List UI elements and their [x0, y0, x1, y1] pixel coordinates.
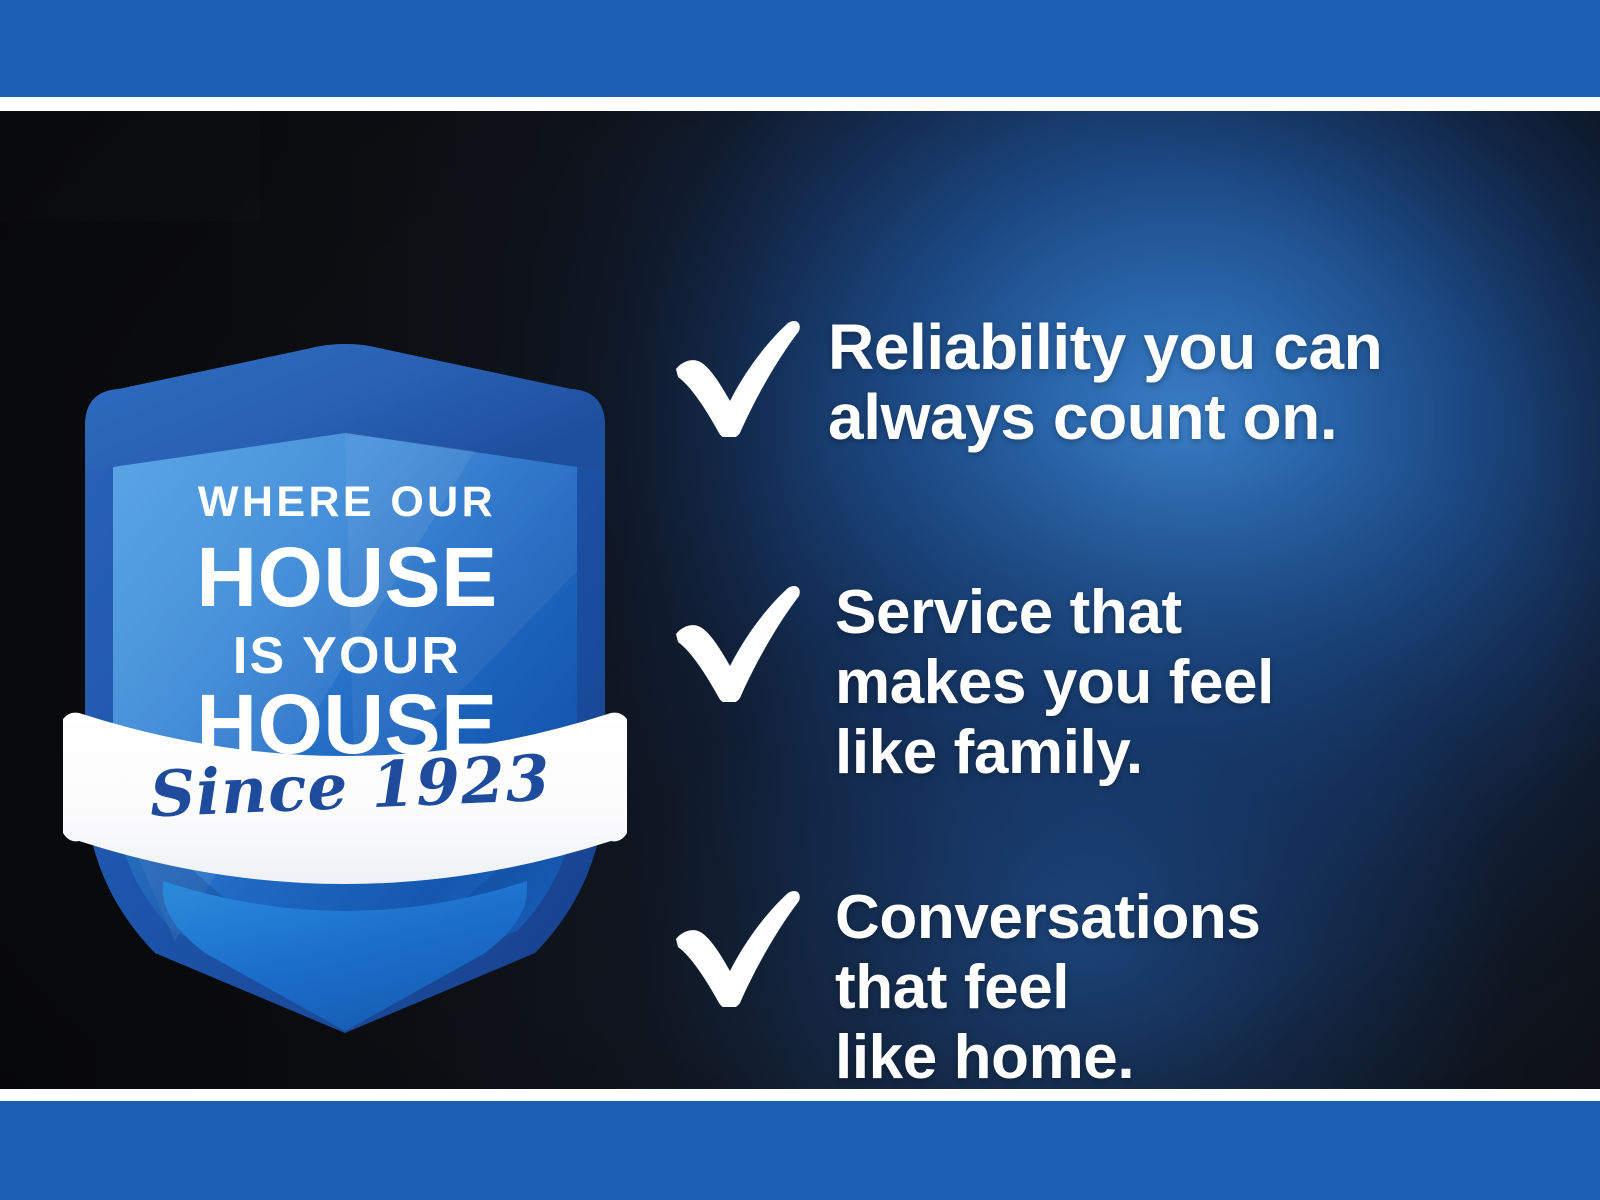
promo-poster: WHERE OUR HOUSE IS YOUR HOUSE Since 1923: [0, 0, 1600, 1200]
checkmark-icon: [668, 582, 808, 702]
benefit-text: Conversations that feel like home.: [835, 883, 1525, 1089]
main-panel: WHERE OUR HOUSE IS YOUR HOUSE Since 1923: [0, 111, 1600, 1089]
top-accent-bar: [0, 0, 1600, 97]
checkmark-icon: [668, 887, 808, 1007]
logo-line-1: WHERE OUR: [198, 478, 496, 526]
benefit-text: Service that makes you feel like family.: [835, 578, 1525, 788]
benefit-text: Reliability you can always count on.: [828, 313, 1518, 453]
shield-badge: WHERE OUR HOUSE IS YOUR HOUSE Since 1923: [55, 241, 635, 1061]
grain-texture-fine: [0, 111, 260, 221]
bottom-accent-bar: [0, 1101, 1600, 1200]
logo-line-2: HOUSE: [196, 530, 497, 624]
checkmark-icon: [668, 317, 808, 437]
benefits-list: Reliability you can always count on. Ser…: [660, 222, 1560, 1089]
